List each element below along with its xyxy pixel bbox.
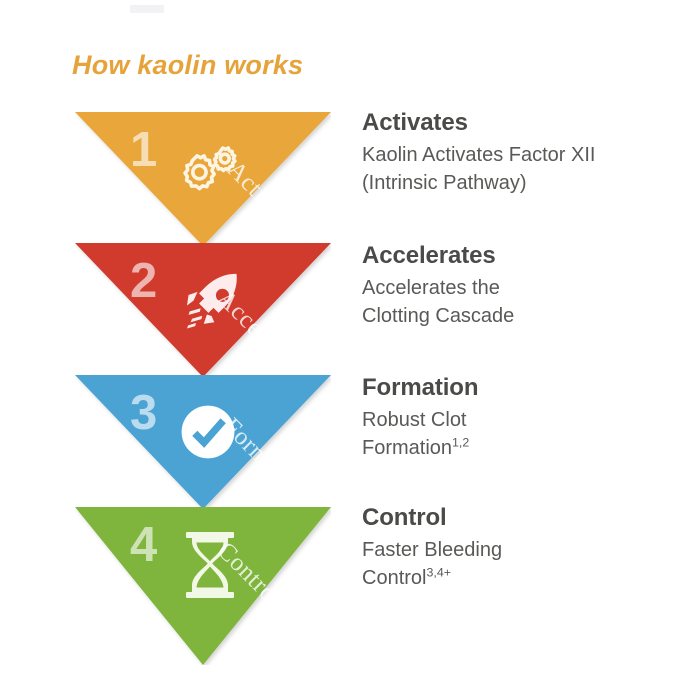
funnel-step-number-1: 1	[130, 126, 157, 175]
description-line-1b: (Intrinsic Pathway)	[362, 169, 700, 197]
funnel-step-4[interactable]: 4 Control	[75, 507, 331, 665]
description-line-2b: Clotting Cascade	[362, 302, 700, 330]
description-block-1: Activates Kaolin Activates Factor XII (I…	[362, 110, 700, 198]
funnel-step-number-2: 2	[130, 257, 157, 306]
step-descriptions: Activates Kaolin Activates Factor XII (I…	[362, 0, 700, 700]
funnel-diagram: 1 Activates	[0, 0, 360, 700]
infographic-canvas: How kaolin works 1	[0, 0, 700, 700]
funnel-step-number-4: 4	[130, 521, 157, 570]
description-block-2: Accelerates Accelerates the Clotting Cas…	[362, 243, 700, 331]
description-line-2a: Accelerates the	[362, 274, 700, 302]
funnel-step-2[interactable]: 2	[75, 243, 331, 377]
description-sup-3: 1,2	[452, 436, 469, 450]
description-heading-3: Formation	[362, 375, 700, 402]
funnel-step-1[interactable]: 1 Activates	[75, 112, 331, 246]
description-heading-2: Accelerates	[362, 243, 700, 270]
funnel-step-number-3: 3	[130, 389, 157, 438]
description-heading-4: Control	[362, 505, 700, 532]
description-block-4: Control Faster Bleeding Control3,4+	[362, 505, 700, 593]
description-line-4b: Control3,4+	[362, 564, 700, 592]
description-line-3a: Robust Clot	[362, 406, 700, 434]
description-heading-1: Activates	[362, 110, 700, 137]
description-sup-4: 3,4+	[426, 566, 450, 580]
description-block-3: Formation Robust Clot Formation1,2	[362, 375, 700, 463]
description-line-1b-text: (Intrinsic Pathway)	[362, 172, 527, 194]
description-line-4b-text: Control	[362, 567, 426, 589]
description-line-3b: Formation1,2	[362, 434, 700, 462]
description-line-4a: Faster Bleeding	[362, 536, 700, 564]
funnel-step-3[interactable]: 3 Formation	[75, 375, 331, 509]
description-line-2b-text: Clotting Cascade	[362, 305, 514, 327]
description-line-1a: Kaolin Activates Factor XII	[362, 141, 700, 169]
description-line-3b-text: Formation	[362, 437, 452, 459]
